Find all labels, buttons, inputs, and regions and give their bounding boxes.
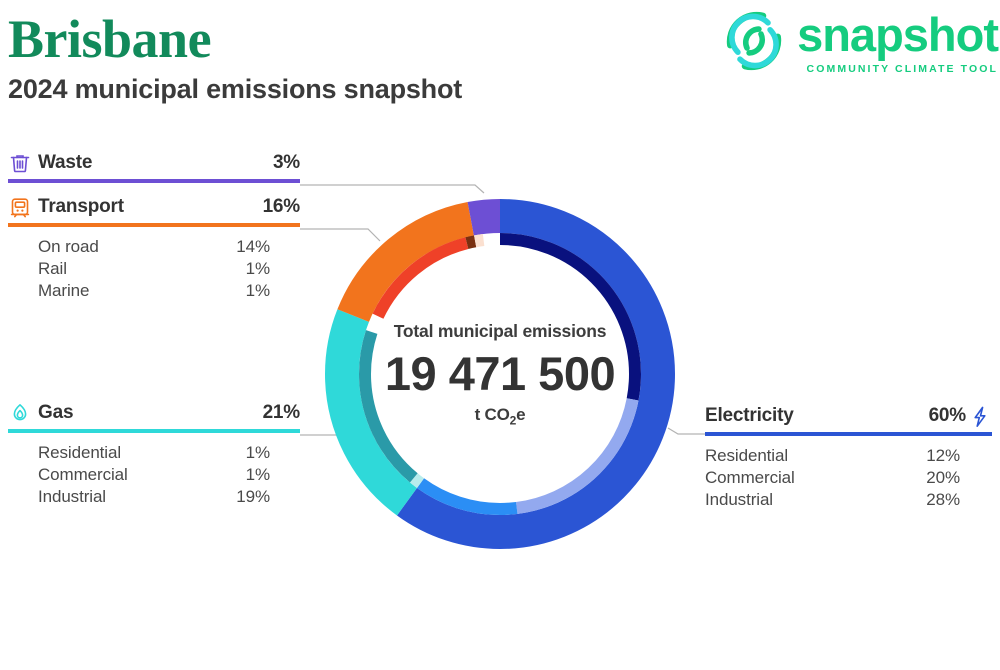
transport-label: Transport — [38, 196, 124, 218]
electricity-label: Electricity — [705, 405, 794, 427]
lightning-icon — [968, 405, 992, 429]
subcategory-row: Residential 12% — [705, 445, 960, 467]
total-emissions-unit: t CO2e — [475, 405, 526, 427]
subcategory-row: Industrial 28% — [705, 489, 960, 511]
sub-label: Rail — [38, 258, 67, 280]
logo-tagline: COMMUNITY CLIMATE TOOL — [807, 63, 998, 75]
total-emissions-label: Total municipal emissions — [394, 321, 607, 342]
sub-label: Residential — [38, 442, 121, 464]
transport-subcategories: On road 14% Rail 1% Marine 1% — [8, 236, 270, 302]
gas-label: Gas — [38, 402, 73, 424]
transport-rule — [8, 223, 300, 227]
snapshot-logo: snapshot COMMUNITY CLIMATE TOOL — [719, 6, 998, 84]
sub-value: 12% — [926, 445, 960, 467]
sub-label: Commercial — [38, 464, 128, 486]
sub-value: 19% — [236, 486, 270, 508]
sub-value: 1% — [246, 280, 270, 302]
sub-value: 1% — [246, 464, 270, 486]
subcategory-row: Rail 1% — [38, 258, 270, 280]
electricity-header: Electricity 60% — [705, 405, 992, 427]
category-waste[interactable]: Waste 3% — [8, 152, 300, 183]
electricity-rule — [705, 432, 992, 436]
page-subtitle: 2024 municipal emissions snapshot — [8, 72, 462, 106]
gas-subcategories: Residential 1% Commercial 1% Industrial … — [8, 442, 270, 508]
gas-rule — [8, 429, 300, 433]
waste-value: 3% — [273, 152, 300, 174]
logo-wordmark: snapshot — [797, 10, 998, 60]
gas-header: Gas 21% — [8, 402, 300, 424]
waste-label: Waste — [38, 152, 92, 174]
subcategory-row: Commercial 20% — [705, 467, 960, 489]
sub-value: 1% — [246, 258, 270, 280]
electricity-value: 60% — [929, 405, 966, 427]
subcategory-row: Marine 1% — [38, 280, 270, 302]
page-title: Brisbane — [8, 8, 211, 70]
category-gas[interactable]: Gas 21% Residential 1% Commercial 1% Ind… — [8, 402, 300, 508]
waste-rule — [8, 179, 300, 183]
waste-header: Waste 3% — [8, 152, 300, 174]
total-emissions-value: 19 471 500 — [385, 344, 615, 404]
sub-value: 14% — [236, 236, 270, 258]
sub-label: Industrial — [38, 486, 106, 508]
sub-value: 20% — [926, 467, 960, 489]
trash-icon — [8, 152, 32, 176]
sub-label: Commercial — [705, 467, 795, 489]
gas-value: 21% — [263, 402, 300, 424]
sub-value: 1% — [246, 442, 270, 464]
donut-center-summary: Total municipal emissions 19 471 500 t C… — [322, 196, 678, 552]
unit-suffix: e — [516, 405, 525, 424]
snapshot-swirl-icon — [719, 6, 789, 76]
subcategory-row: Residential 1% — [38, 442, 270, 464]
sub-label: Marine — [38, 280, 89, 302]
category-transport[interactable]: Transport 16% On road 14% Rail 1% Marine… — [8, 196, 300, 302]
subcategory-row: On road 14% — [38, 236, 270, 258]
transport-header: Transport 16% — [8, 196, 300, 218]
sub-label: Residential — [705, 445, 788, 467]
tram-icon — [8, 196, 32, 220]
subcategory-row: Commercial 1% — [38, 464, 270, 486]
unit-prefix: t CO — [475, 405, 510, 424]
category-electricity[interactable]: Electricity 60% Residential 12% Commerci… — [705, 405, 992, 511]
sub-value: 28% — [926, 489, 960, 511]
transport-value: 16% — [263, 196, 300, 218]
flame-icon — [8, 402, 32, 426]
sub-label: On road — [38, 236, 99, 258]
subcategory-row: Industrial 19% — [38, 486, 270, 508]
sub-label: Industrial — [705, 489, 773, 511]
electricity-subcategories: Residential 12% Commercial 20% Industria… — [705, 445, 992, 511]
emissions-snapshot-page: Brisbane 2024 municipal emissions snapsh… — [0, 0, 1000, 670]
